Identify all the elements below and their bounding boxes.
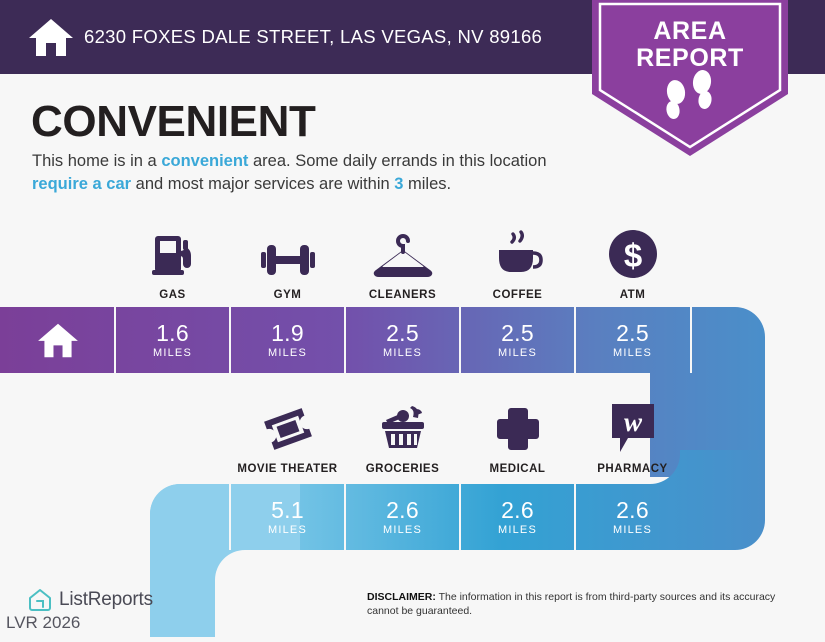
distance-value: 2.6 (386, 498, 419, 523)
badge-title: AREA REPORT (592, 18, 788, 72)
coffee-cup-icon (492, 222, 544, 280)
distance-value: 2.6 (616, 498, 649, 523)
distance-cell: 2.6 MILES (575, 484, 690, 550)
cell-divider (574, 307, 576, 373)
category-pharmacy: w PHARMACY (575, 396, 690, 475)
dumbbell-icon (261, 222, 315, 280)
category-groceries: GROCERIES (345, 396, 460, 475)
distance-unit: MILES (153, 347, 192, 359)
cell-divider (459, 307, 461, 373)
area-report-infographic: 6230 FOXES DALE STREET, LAS VEGAS, NV 89… (0, 0, 825, 637)
desc-part-2: area. Some daily errands in this locatio… (248, 152, 546, 170)
movie-ticket-icon (262, 396, 314, 454)
cell-divider (344, 484, 346, 550)
distance-unit: MILES (613, 347, 652, 359)
badge-line-2: REPORT (592, 45, 788, 72)
category-label: COFFEE (493, 289, 543, 301)
category-label: GAS (159, 289, 185, 301)
desc-part-3: and most major services are within (131, 175, 394, 193)
desc-part-4: miles. (403, 175, 451, 193)
category-label: CLEANERS (369, 289, 436, 301)
desc-highlight-2: require a car (32, 175, 131, 193)
distance-value: 2.5 (616, 321, 649, 346)
home-icon (28, 16, 74, 58)
lvr-label: LVR 2026 (6, 613, 80, 633)
distance-cell: 2.5 MILES (345, 307, 460, 373)
brand-name: ListReports (59, 589, 153, 611)
page-title: CONVENIENT (31, 97, 315, 147)
dollar-circle-icon: $ (607, 222, 659, 280)
row1-distance-group: 1.6 MILES 1.9 MILES 2.5 MILES 2.5 MILES … (115, 307, 690, 373)
hanger-icon (372, 222, 434, 280)
origin-home-cell (0, 307, 115, 373)
category-label: PHARMACY (597, 463, 667, 475)
row2-icon-group: MOVIE THEATER (230, 396, 690, 475)
distance-unit: MILES (383, 347, 422, 359)
distance-value: 2.6 (501, 498, 534, 523)
row2-distance-group: 5.1 MILES 2.6 MILES 2.6 MILES 2.6 MILES (230, 484, 690, 550)
distance-unit: MILES (498, 347, 537, 359)
distance-cell: 2.5 MILES (460, 307, 575, 373)
distance-value: 2.5 (501, 321, 534, 346)
category-medical: MEDICAL (460, 396, 575, 475)
category-gas: GAS (115, 222, 230, 301)
distance-unit: MILES (268, 524, 307, 536)
cell-divider (690, 307, 692, 373)
cell-divider (344, 307, 346, 373)
distance-cell: 5.1 MILES (230, 484, 345, 550)
pharmacy-w-icon: w (609, 396, 657, 454)
cell-divider (229, 307, 231, 373)
category-label: GROCERIES (366, 463, 440, 475)
category-cleaners: CLEANERS (345, 222, 460, 301)
cell-divider (574, 484, 576, 550)
desc-highlight-1: convenient (161, 152, 248, 170)
brand-logo: ListReports (28, 588, 153, 612)
description-text: This home is in a convenient area. Some … (32, 150, 592, 196)
desc-part-1: This home is in a (32, 152, 161, 170)
distance-value: 2.5 (386, 321, 419, 346)
distance-unit: MILES (498, 524, 537, 536)
distance-cell: 2.6 MILES (345, 484, 460, 550)
distance-unit: MILES (613, 524, 652, 536)
cell-divider (229, 484, 231, 550)
category-label: GYM (274, 289, 302, 301)
grocery-basket-icon (376, 396, 430, 454)
svg-text:$: $ (623, 237, 641, 274)
gas-pump-icon (147, 222, 199, 280)
category-label: MOVIE THEATER (237, 463, 337, 475)
area-report-badge: AREA REPORT (592, 0, 788, 158)
distance-cell: 1.6 MILES (115, 307, 230, 373)
cell-divider (459, 484, 461, 550)
disclaimer-label: DISCLAIMER: (367, 591, 436, 603)
cell-divider (114, 307, 116, 373)
listreports-house-icon (28, 588, 52, 612)
medical-cross-icon (493, 396, 543, 454)
distance-cell: 2.6 MILES (460, 484, 575, 550)
svg-text:w: w (623, 407, 642, 437)
distance-cell: 1.9 MILES (230, 307, 345, 373)
row1-icon-group: GAS GYM (115, 222, 690, 301)
category-gym: GYM (230, 222, 345, 301)
category-atm: $ ATM (575, 222, 690, 301)
badge-line-1: AREA (592, 18, 788, 45)
distance-value: 5.1 (271, 498, 304, 523)
category-coffee: COFFEE (460, 222, 575, 301)
distance-unit: MILES (383, 524, 422, 536)
distance-cell: 2.5 MILES (575, 307, 690, 373)
distance-unit: MILES (268, 347, 307, 359)
home-icon (37, 321, 79, 359)
category-label: MEDICAL (490, 463, 546, 475)
distance-value: 1.6 (156, 321, 189, 346)
disclaimer: DISCLAIMER: The information in this repo… (367, 591, 792, 618)
distance-value: 1.9 (271, 321, 304, 346)
category-label: ATM (620, 289, 646, 301)
property-address: 6230 FOXES DALE STREET, LAS VEGAS, NV 89… (84, 26, 542, 48)
category-movie-theater: MOVIE THEATER (230, 396, 345, 475)
